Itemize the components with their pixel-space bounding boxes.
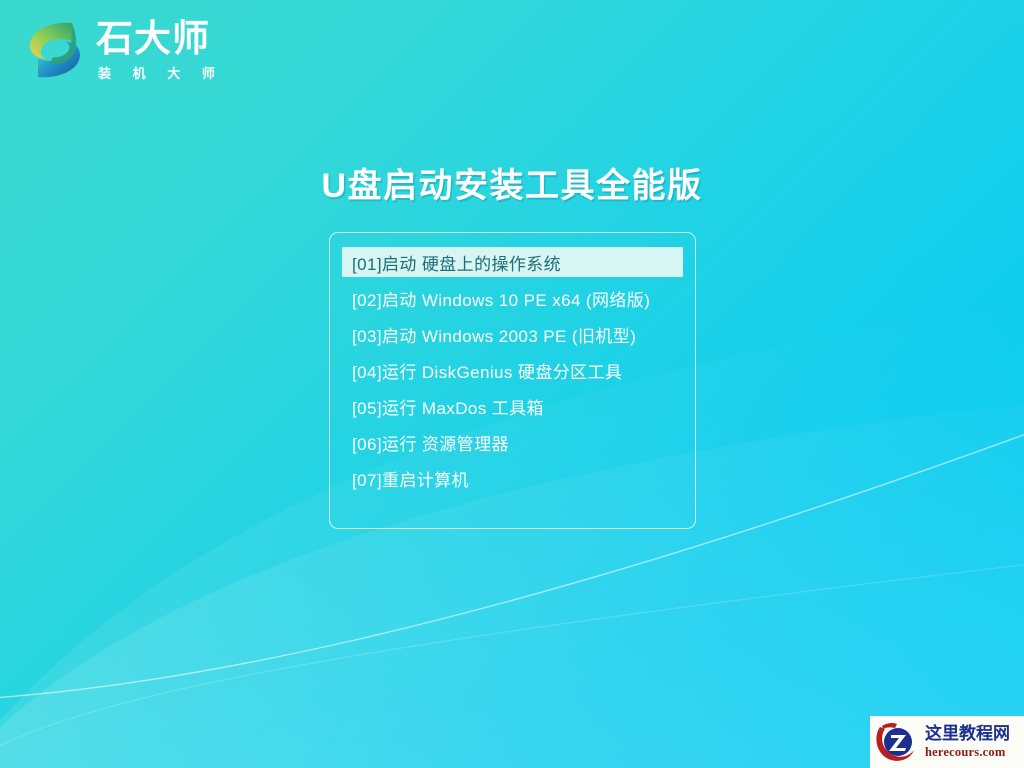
menu-item-02[interactable]: [02]启动 Windows 10 PE x64 (网络版) <box>342 283 683 313</box>
z-circle-swoosh-icon <box>873 719 921 765</box>
boot-menu-screen: 石大师 装 机 大 师 U盘启动安装工具全能版 [01]启动 硬盘上的操作系统 … <box>0 0 1024 768</box>
menu-item-01[interactable]: [01]启动 硬盘上的操作系统 <box>342 247 683 277</box>
boot-menu-panel: [01]启动 硬盘上的操作系统 [02]启动 Windows 10 PE x64… <box>329 232 696 529</box>
page-title: U盘启动安装工具全能版 <box>0 158 1024 207</box>
watermark-site-url: herecours.com <box>925 746 1010 759</box>
menu-item-05[interactable]: [05]运行 MaxDos 工具箱 <box>342 391 683 421</box>
menu-item-04[interactable]: [04]运行 DiskGenius 硬盘分区工具 <box>342 355 683 385</box>
site-watermark: 这里教程网 herecours.com <box>870 716 1024 768</box>
brand-name: 石大师 <box>96 20 224 58</box>
boot-menu-list: [01]启动 硬盘上的操作系统 [02]启动 Windows 10 PE x64… <box>330 247 695 493</box>
watermark-site-name: 这里教程网 <box>925 726 1010 743</box>
brand-subtitle: 装 机 大 师 <box>96 63 224 82</box>
menu-item-07[interactable]: [07]重启计算机 <box>342 463 683 493</box>
brand-logo: 石大师 装 机 大 师 <box>26 18 224 82</box>
shi-dashi-leaf-logo-icon <box>26 19 84 81</box>
menu-item-06[interactable]: [06]运行 资源管理器 <box>342 427 683 457</box>
menu-item-03[interactable]: [03]启动 Windows 2003 PE (旧机型) <box>342 319 683 349</box>
